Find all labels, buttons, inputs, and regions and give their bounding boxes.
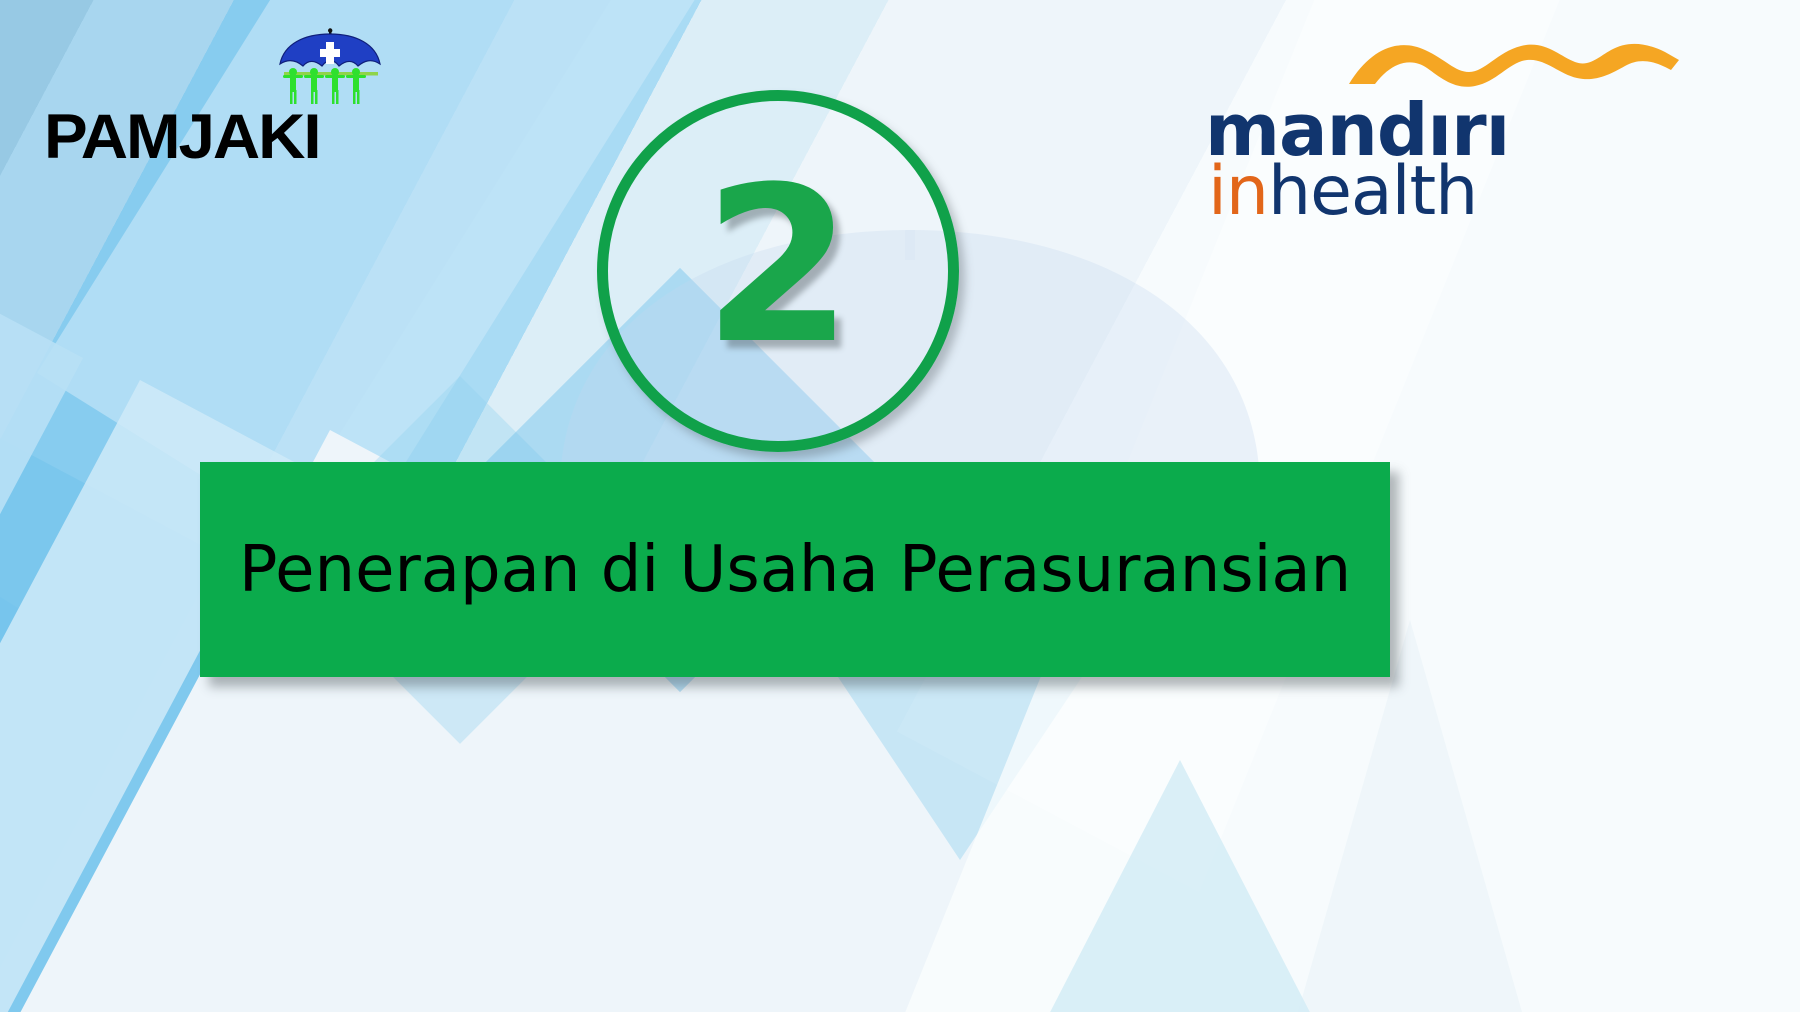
inhealth-in-text: in (1208, 152, 1268, 231)
presentation-slide: PAMJAKI mandırı inhealth 2 Penerapan di … (0, 0, 1800, 1012)
section-title-text: Penerapan di Usaha Perasuransian (239, 533, 1351, 607)
section-number-circle: 2 (597, 90, 959, 452)
inhealth-health-text: health (1268, 152, 1477, 231)
mandiri-inhealth-logo: mandırı inhealth (1205, 36, 1545, 206)
background-triangle-bottom-right (1010, 760, 1350, 1012)
section-title-banner: Penerapan di Usaha Perasuransian (200, 462, 1390, 677)
pamjaki-logo: PAMJAKI (44, 28, 374, 158)
inhealth-wordmark: inhealth (1208, 158, 1477, 226)
pamjaki-umbrella-icon (276, 28, 386, 110)
pamjaki-wordmark: PAMJAKI (44, 106, 319, 169)
section-number: 2 (703, 158, 853, 373)
mandiri-wave-icon (1345, 36, 1685, 96)
